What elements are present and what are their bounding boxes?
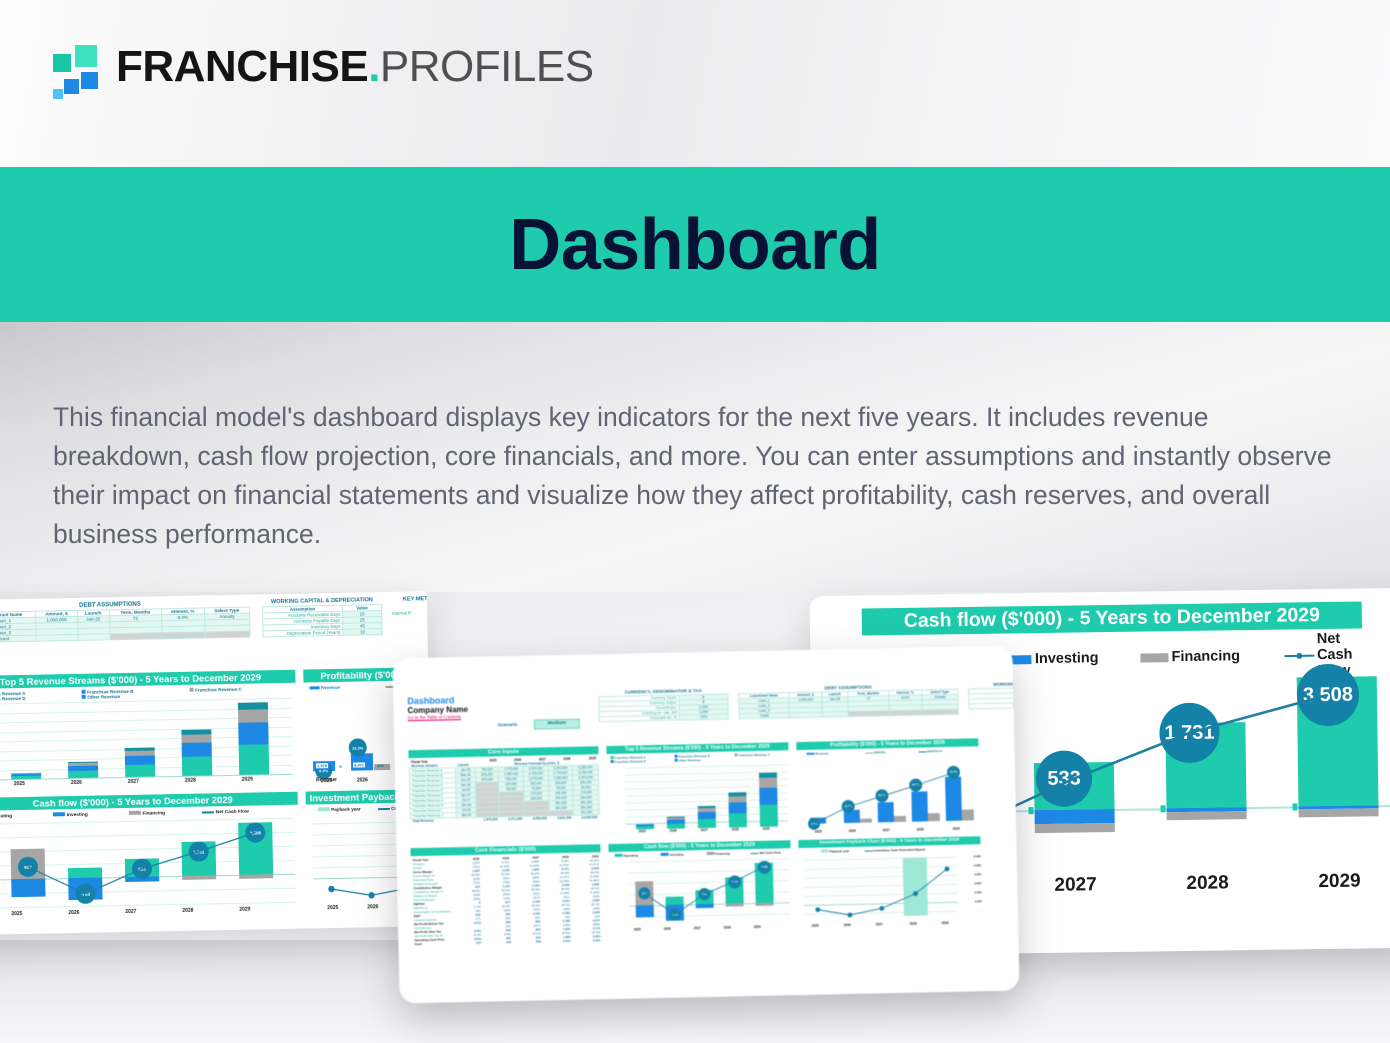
legend-label: Cumulative Cash Generated ($year)	[873, 847, 925, 852]
legend-label: EBITDA %	[927, 749, 942, 753]
center-wc-block: WORKING CAPITAL & DEPRECIATION Accounts …	[968, 680, 1019, 710]
cashflow-chart-title: Cash flow ($'000) - 5 Years to December …	[862, 601, 1362, 635]
center-revstreams-plot: 2025 2026 2027 2028 2029	[607, 764, 790, 840]
x-tick: 2026	[834, 923, 860, 928]
center-wc-title: WORKING CAPITAL & DEPRECIATION	[968, 680, 1019, 688]
x-tick: 2028	[721, 827, 749, 832]
center-profit-legend: Revenue EBITDA EBITDA %	[807, 748, 977, 756]
x-tick: 2029	[752, 826, 780, 831]
center-revstreams-legend: Franchise Revenue A Franchise Revenue B …	[611, 752, 789, 764]
x-tick: 2026	[838, 829, 866, 834]
center-payback-legend: Payback year Cumulative Cash Generated (…	[821, 846, 981, 853]
cell: 9,641,000	[549, 815, 574, 820]
x-tick: 2028	[714, 925, 740, 930]
legend-label: Payback year	[331, 806, 360, 812]
cell: Grant	[0, 635, 36, 642]
x-tick: 2029	[932, 921, 958, 926]
bar-financing-2028	[1167, 811, 1247, 820]
x-tick: 2028	[900, 921, 926, 926]
legend-label: Investing	[67, 813, 88, 818]
x-tick-2029: 2029	[1293, 870, 1385, 893]
center-profit-plot: 3.7% 13.2% 20.5% 26.7% 30.7% 2025 2026 2…	[797, 758, 981, 836]
center-payback-plot: 6,000 5,000 4,000 3,000 2,000 1,000 - 20…	[799, 854, 983, 934]
legend-label: Operating	[0, 814, 12, 819]
legend-label: Revenue	[815, 751, 828, 755]
x-tick: 2027	[108, 908, 154, 915]
cell: 5,925	[573, 938, 603, 943]
center-cashflow-plot: 917 -763 533 1,731 3,508 2025 2026 2027	[609, 858, 793, 938]
legend-label: Investing	[670, 852, 684, 856]
cell: 686	[513, 939, 543, 944]
x-tick: 2029	[225, 776, 269, 783]
legend-label: Franchise Revenue C	[195, 687, 242, 693]
x-tick: 2025	[804, 829, 832, 834]
legend-label: Financing	[142, 811, 165, 816]
cell: Cash	[412, 941, 453, 946]
bar-investing-2027	[1035, 809, 1115, 824]
x-tick: 2025	[628, 829, 656, 834]
x-tick: 2025	[802, 923, 828, 928]
cell: 2,917	[543, 939, 573, 944]
center-core-financials-table: Fiscal Year 2025 2026 2027 2028 2029 Rev…	[411, 854, 603, 946]
legend-label: Financing	[715, 852, 730, 856]
logo-dot: .	[368, 42, 380, 91]
preview-card-center[interactable]: Dashboard Company Name Go to the Table o…	[392, 646, 1019, 1004]
x-tick: 2027	[866, 922, 892, 927]
x-tick: 2026	[54, 780, 98, 787]
cell: Total Revenue	[410, 818, 456, 823]
cell: Depreciation Period (Years)	[969, 702, 1020, 709]
logo-mark-icon	[52, 44, 108, 102]
x-tick: 2029	[942, 826, 970, 831]
x-tick: 2028	[906, 827, 934, 832]
x-tick: 2028	[165, 907, 211, 914]
description-text: This financial model's dashboard display…	[53, 398, 1343, 554]
x-tick: 2029	[744, 925, 770, 930]
cell: 10	[343, 629, 382, 636]
cell: 917	[453, 941, 483, 946]
bar-financing-2029	[1299, 808, 1379, 817]
x-tick: 2025	[0, 781, 41, 788]
x-tick-2027: 2027	[1029, 874, 1121, 897]
cell: 1,575,000	[476, 817, 499, 822]
preview-card-left[interactable]: & TAX $ $ 1,000 1,000 15% DEBT ASSUMPTIO…	[0, 591, 433, 936]
x-tick-2028: 2028	[1161, 872, 1253, 895]
logo-word-primary: FRANCHISE	[116, 42, 368, 91]
x-tick: 2027	[872, 828, 900, 833]
x-tick: 2027	[690, 828, 718, 833]
cell: 15%	[679, 714, 728, 720]
x-tick: 2025	[624, 927, 650, 932]
center-scenario-label: Scenario	[498, 722, 518, 727]
left-revenue-plot: 16,000 14,000 12,000 10,000 8,000 6,000 …	[0, 698, 297, 794]
x-tick: 2027	[684, 926, 710, 931]
legend-label: Franchise Revenue C	[739, 753, 771, 758]
legend-label: Franchise Revenue D	[0, 696, 26, 702]
x-tick: 2026	[659, 828, 687, 833]
logo-word-secondary: PROFILES	[380, 42, 594, 91]
center-currency-block: CURRENCY, DENOMINATOR & TAX Currency Inp…	[598, 688, 729, 723]
brand-logo[interactable]: FRANCHISE.PROFILES	[52, 44, 532, 106]
x-tick: 2028	[168, 777, 212, 784]
center-scenario-value[interactable]: Medium	[534, 719, 580, 730]
legend-label: EBITDA	[874, 750, 885, 754]
legend-label: Operating	[623, 853, 638, 857]
x-tick: 2025	[314, 905, 352, 912]
center-header: Dashboard Company Name Go to the Table o…	[407, 693, 547, 720]
x-tick: 2025	[0, 911, 40, 918]
slide-page: FRANCHISE.PROFILES Dashboard This financ…	[0, 0, 1390, 1043]
legend-label: Other Revenue	[679, 758, 701, 762]
center-cashflow-legend: Operating Investing Financing Net Cash F…	[615, 850, 791, 858]
bar-financing-2027	[1035, 823, 1115, 833]
legend-label: Net Cash Flow	[216, 810, 249, 816]
cell: Grant	[739, 713, 789, 719]
cell: Depreciation Period (Years)	[263, 629, 343, 637]
cell: 6,054,000	[524, 816, 549, 821]
data-label: -763	[75, 884, 95, 904]
logo-wordmark: FRANCHISE.PROFILES	[116, 42, 594, 92]
x-tick: 2027	[111, 778, 155, 785]
center-core-inputs-table: Fiscal Year 2025 2026 2027 2028 2029 Rev…	[409, 756, 600, 823]
legend-label: Other Revenue	[87, 694, 120, 700]
legend-label: Franchise Revenue D	[615, 759, 647, 764]
legend-label: Revenue	[321, 685, 340, 690]
center-debt-block: DEBT ASSUMPTIONS Loan/Grant Name Amount,…	[738, 683, 959, 720]
page-title: Dashboard	[509, 204, 881, 286]
legend-label: Payback year	[829, 849, 849, 853]
cell: Corporate tax, %	[599, 715, 679, 722]
x-tick: 2026	[654, 927, 680, 932]
x-tick: 2029	[222, 906, 268, 913]
hero-title: Dashboard	[0, 167, 1390, 322]
x-tick: 2026	[51, 910, 97, 917]
cell: 14,920,000	[574, 815, 600, 820]
left-cashflow-plot: 917 -763 533 1,731 3,508	[0, 818, 300, 924]
legend-label: Net Cash Flow	[760, 850, 781, 854]
table-row: Depreciation Period (Years)10	[263, 629, 382, 637]
left-km-label: Internal R	[392, 610, 433, 616]
x-tick: 2026	[354, 904, 392, 911]
cell: 3,471,000	[500, 816, 525, 821]
cell: 158	[483, 940, 513, 945]
